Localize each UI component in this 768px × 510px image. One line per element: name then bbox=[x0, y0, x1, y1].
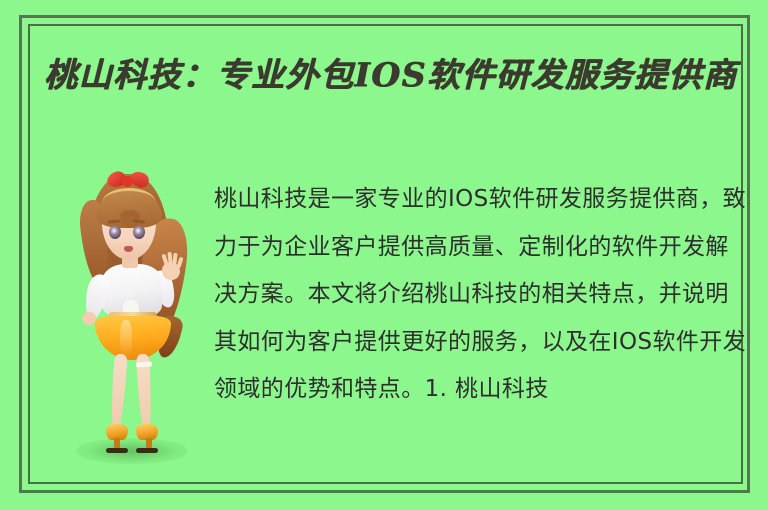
poster-body-text: 桃山科技是一家专业的IOS软件研发服务提供商，致力于为企业客户提供高质量、定制化… bbox=[214, 176, 748, 414]
anime-girl-illustration bbox=[62, 166, 202, 476]
character-ground-shadow bbox=[76, 438, 188, 464]
red-bow-knot-icon bbox=[122, 176, 133, 187]
poster-title: 桃山科技：专业外包IOS软件研发服务提供商 bbox=[44, 50, 744, 100]
right-shoe-sole bbox=[136, 448, 158, 453]
skirt-highlight bbox=[120, 320, 132, 358]
mouth bbox=[124, 246, 133, 252]
left-shoe-sole bbox=[106, 448, 128, 453]
poster-canvas: 桃山科技：专业外包IOS软件研发服务提供商 bbox=[0, 0, 768, 510]
left-leg bbox=[109, 354, 127, 431]
